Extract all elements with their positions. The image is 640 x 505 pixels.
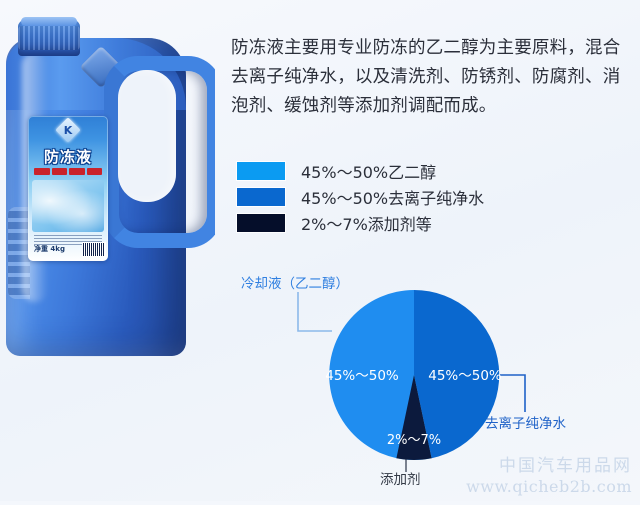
legend-swatch-ethylene-glycol: [237, 162, 285, 180]
label-ice-artwork: [32, 180, 104, 232]
label-barcode: [82, 242, 106, 257]
legend-label-ethylene-glycol: 45%～50%乙二醇: [301, 159, 436, 183]
pie-chart: 45%～50% 45%～50% 2%～7% 冷却液（乙二醇） 去离子纯净水 添加…: [228, 262, 640, 501]
chart-legend: 45%～50%乙二醇 45%～50%去离子纯净水 2%～7%添加剂等: [237, 158, 484, 236]
infographic-canvas: K 防冻液 净重 4kg 防冻液主要用专业防冻的乙二醇为主要原料，混合去离子纯净…: [0, 0, 640, 501]
callout-label-additives: 添加剂: [380, 468, 421, 488]
pie-value-ethylene-glycol: 45%～50%: [325, 368, 399, 384]
legend-label-deionized-water: 45%～50%去离子纯净水: [301, 185, 484, 209]
callout-line-deionized-water: [500, 375, 525, 412]
cap-ridges: [18, 26, 80, 50]
label-title: 防冻液: [28, 146, 108, 167]
label-feature-tags: [34, 168, 102, 175]
label-net-weight: 净重 4kg: [34, 244, 86, 254]
pie-value-deionized-water: 45%～50%: [428, 368, 502, 384]
handle-cutout: [118, 70, 176, 202]
product-photo: K 防冻液 净重 4kg: [0, 12, 215, 357]
product-label: K 防冻液 净重 4kg: [28, 116, 108, 261]
legend-label-additives: 2%～7%添加剂等: [301, 211, 432, 235]
description-paragraph: 防冻液主要用专业防冻的乙二醇为主要原料，混合去离子纯净水，以及清洗剂、防锈剂、防…: [231, 34, 631, 121]
pie-value-additives: 2%～7%: [387, 433, 441, 448]
legend-item: 45%～50%去离子纯净水: [237, 184, 484, 210]
callout-label-deionized-water: 去离子纯净水: [485, 412, 566, 432]
cap-top: [21, 17, 77, 26]
callout-line-ethylene-glycol: [298, 292, 332, 331]
legend-item: 45%～50%乙二醇: [237, 158, 484, 184]
brand-mark: K: [59, 123, 77, 139]
legend-swatch-deionized-water: [237, 188, 285, 206]
callout-label-ethylene-glycol: 冷却液（乙二醇）: [241, 272, 349, 292]
pie-chart-svg: 45%～50% 45%～50% 2%～7%: [228, 262, 640, 501]
legend-item: 2%～7%添加剂等: [237, 210, 484, 236]
legend-swatch-additives: [237, 214, 285, 232]
